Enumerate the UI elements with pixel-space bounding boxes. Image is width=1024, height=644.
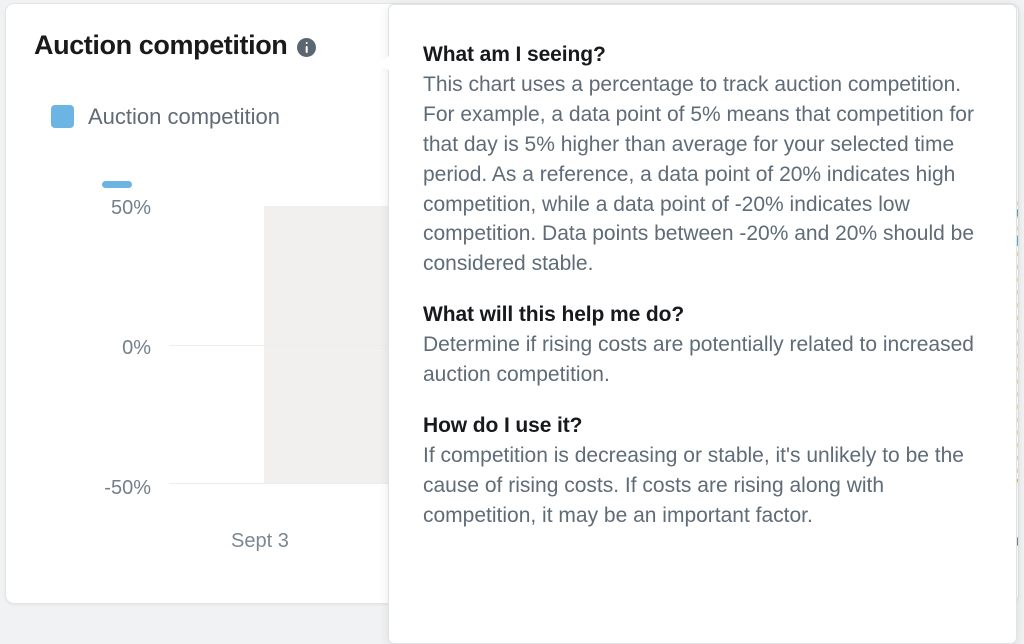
popover-section: How do I use it? If competition is decre… bbox=[423, 412, 984, 531]
legend-swatch bbox=[51, 105, 74, 128]
chart-legend: Auction competition bbox=[51, 105, 280, 128]
series-marker-top bbox=[102, 181, 132, 188]
popover-section: What am I seeing? This chart uses a perc… bbox=[423, 41, 984, 279]
ytick-label-50: 50% bbox=[66, 198, 151, 218]
ytick-label-0: 0% bbox=[66, 338, 151, 358]
popover-section-heading: What will this help me do? bbox=[423, 301, 984, 329]
popover-section: What will this help me do? Determine if … bbox=[423, 301, 984, 390]
info-popover: What am I seeing? This chart uses a perc… bbox=[388, 4, 1017, 644]
card-header: Auction competition bbox=[34, 32, 316, 59]
page-title: Auction competition bbox=[34, 32, 287, 59]
popover-section-body: This chart uses a percentage to track au… bbox=[423, 70, 984, 279]
popover-section-heading: What am I seeing? bbox=[423, 41, 984, 69]
popover-section-heading: How do I use it? bbox=[423, 412, 984, 440]
popover-section-body: If competition is decreasing or stable, … bbox=[423, 441, 984, 530]
info-circle-icon[interactable] bbox=[297, 38, 316, 57]
legend-item-label: Auction competition bbox=[88, 106, 280, 128]
ytick-label-minus50: -50% bbox=[66, 478, 151, 498]
xtick-label-sept-3: Sept 3 bbox=[231, 531, 289, 551]
screen: Auction competition Auction competition … bbox=[0, 0, 1024, 626]
popover-section-body: Determine if rising costs are potentiall… bbox=[423, 330, 984, 390]
